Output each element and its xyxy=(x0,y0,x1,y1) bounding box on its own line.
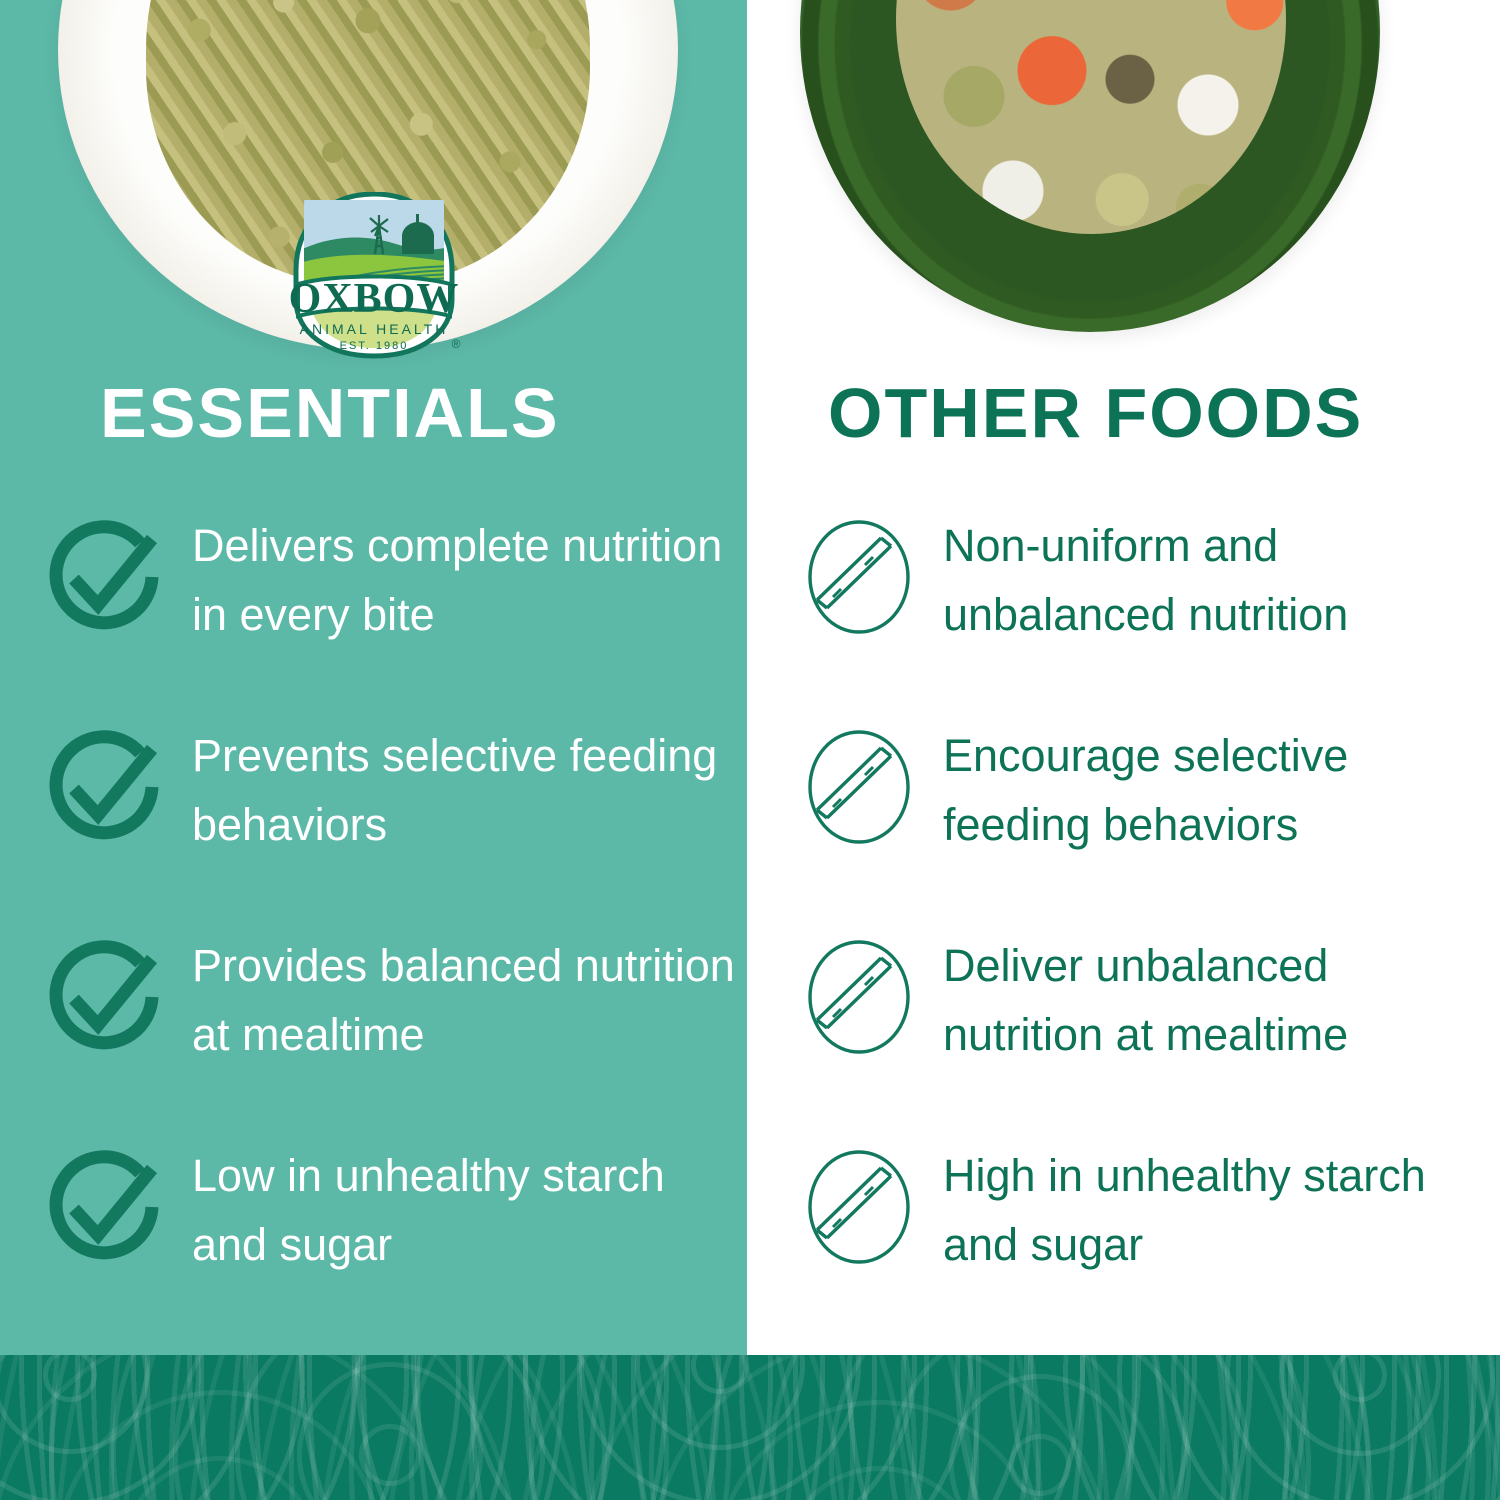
list-item: Provides balanced nutrition at mealtime xyxy=(40,925,750,1135)
check-circle-icon xyxy=(40,513,168,641)
other-foods-heading: OTHER FOODS xyxy=(828,372,1478,454)
list-item: Low in unhealthy starch and sugar xyxy=(40,1135,750,1345)
list-item-label: Low in unhealthy starch and sugar xyxy=(192,1141,738,1279)
column-headings: ESSENTIALS OTHER FOODS xyxy=(0,372,1500,462)
logo-trademark-symbol: ® xyxy=(452,337,461,351)
list-item: Non-uniform and unbalanced nutrition xyxy=(795,505,1485,715)
prohibited-icon xyxy=(795,1143,923,1271)
check-circle-icon xyxy=(40,1143,168,1271)
muesli-mix xyxy=(896,0,1286,234)
list-item: Deliver unbalanced nutrition at mealtime xyxy=(795,925,1485,1135)
comparison-infographic: OXBOW ANIMAL HEALTH EST. 1980 ® ESSENTIA… xyxy=(0,0,1500,1500)
list-item-label: Non-uniform and unbalanced nutrition xyxy=(943,511,1483,649)
bottom-pattern-band xyxy=(0,1355,1500,1500)
logo-wordmark: OXBOW xyxy=(289,276,460,322)
other-foods-drawback-list: Non-uniform and unbalanced nutrition Enc… xyxy=(795,505,1485,1345)
list-item-label: Delivers complete nutrition in every bit… xyxy=(192,511,738,649)
logo-established: EST. 1980 xyxy=(340,340,409,352)
other-foods-bowl-image xyxy=(800,0,1380,332)
logo-tagline: ANIMAL HEALTH xyxy=(300,321,449,337)
list-item: Prevents selective feeding behaviors xyxy=(40,715,750,925)
list-item: Encourage selective feeding behaviors xyxy=(795,715,1485,925)
check-circle-icon xyxy=(40,723,168,851)
list-item-label: Encourage selective feeding behaviors xyxy=(943,721,1483,859)
essentials-benefit-list: Delivers complete nutrition in every bit… xyxy=(40,505,750,1345)
prohibited-icon xyxy=(795,513,923,641)
list-item-label: Deliver unbalanced nutrition at mealtime xyxy=(943,931,1483,1069)
list-item-label: Provides balanced nutrition at mealtime xyxy=(192,931,738,1069)
essentials-heading: ESSENTIALS xyxy=(100,372,720,454)
prohibited-icon xyxy=(795,723,923,851)
oxbow-logo: OXBOW ANIMAL HEALTH EST. 1980 ® xyxy=(276,192,472,364)
check-circle-icon xyxy=(40,933,168,1061)
hero-images xyxy=(0,0,1500,360)
list-item-label: High in unhealthy starch and sugar xyxy=(943,1141,1483,1279)
prohibited-icon xyxy=(795,933,923,1061)
list-item-label: Prevents selective feeding behaviors xyxy=(192,721,738,859)
list-item: Delivers complete nutrition in every bit… xyxy=(40,505,750,715)
concentric-circles-pattern xyxy=(0,1355,1500,1500)
list-item: High in unhealthy starch and sugar xyxy=(795,1135,1485,1345)
